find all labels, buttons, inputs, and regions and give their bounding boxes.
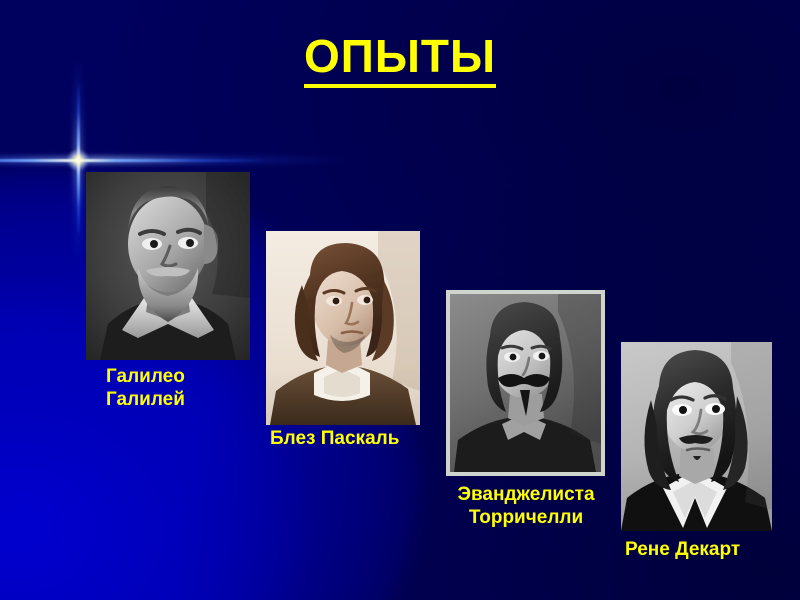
portrait-rene-descartes — [621, 342, 772, 531]
caption-galileo-galilei: Галилео Галилей — [106, 365, 276, 411]
portrait-blaise-pascal — [266, 231, 420, 425]
caption-evangelista-torricelli: Эванджелиста Торричелли — [430, 483, 622, 529]
slide-title-text: ОПЫТЫ — [304, 30, 496, 88]
slide-title: ОПЫТЫ — [0, 30, 800, 88]
presentation-slide: ОПЫТЫ — [0, 0, 800, 600]
portrait-galileo-galilei — [86, 172, 250, 360]
star-horizontal-ray — [0, 159, 268, 162]
caption-rene-descartes: Рене Декарт — [625, 538, 795, 561]
caption-blaise-pascal: Блез Паскаль — [270, 427, 450, 450]
portrait-evangelista-torricelli — [446, 290, 605, 476]
star-core — [67, 149, 89, 171]
